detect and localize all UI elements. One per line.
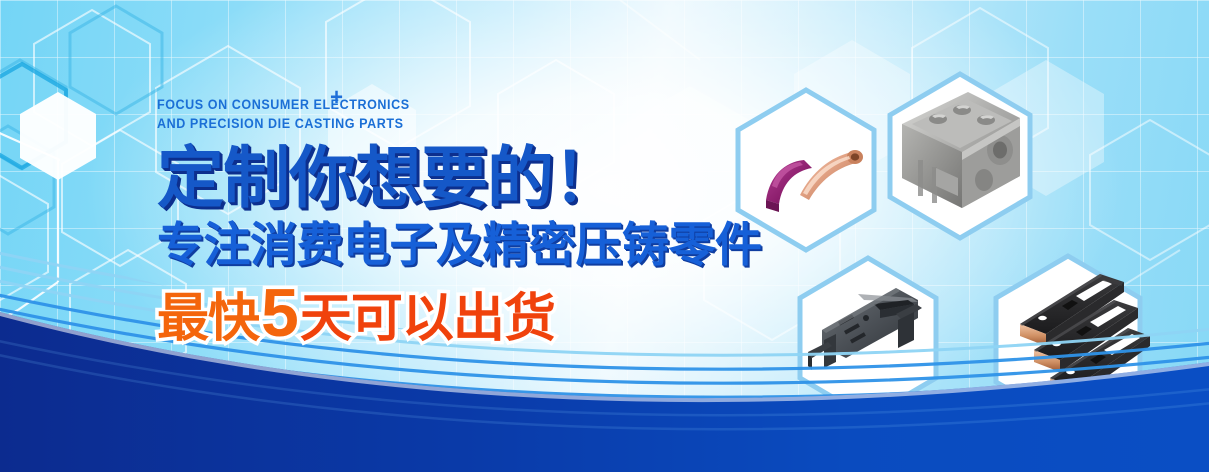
delivery-promise: 最快 5 天可以出货	[157, 279, 762, 347]
plus-icon: +	[330, 86, 344, 110]
tagline: FOCUS ON CONSUMER ELECTRONICS AND PRECIS…	[157, 95, 719, 133]
promo-banner: FOCUS ON CONSUMER ELECTRONICS AND PRECIS…	[0, 0, 1209, 472]
delivery-days-number: 5	[259, 279, 300, 347]
page-title: 定制你想要的！	[157, 145, 762, 212]
delivery-prefix: 最快	[157, 293, 259, 345]
subtitle: 专注消费电子及精密压铸零件	[157, 221, 762, 268]
delivery-suffix: 天可以出货	[300, 293, 555, 345]
tagline-line-1: FOCUS ON CONSUMER ELECTRONICS	[157, 95, 719, 114]
tagline-line-2: AND PRECISION DIE CASTING PARTS	[157, 114, 719, 133]
headline-block: FOCUS ON CONSUMER ELECTRONICS AND PRECIS…	[157, 95, 762, 347]
engine-block-hexagon	[890, 74, 1030, 238]
